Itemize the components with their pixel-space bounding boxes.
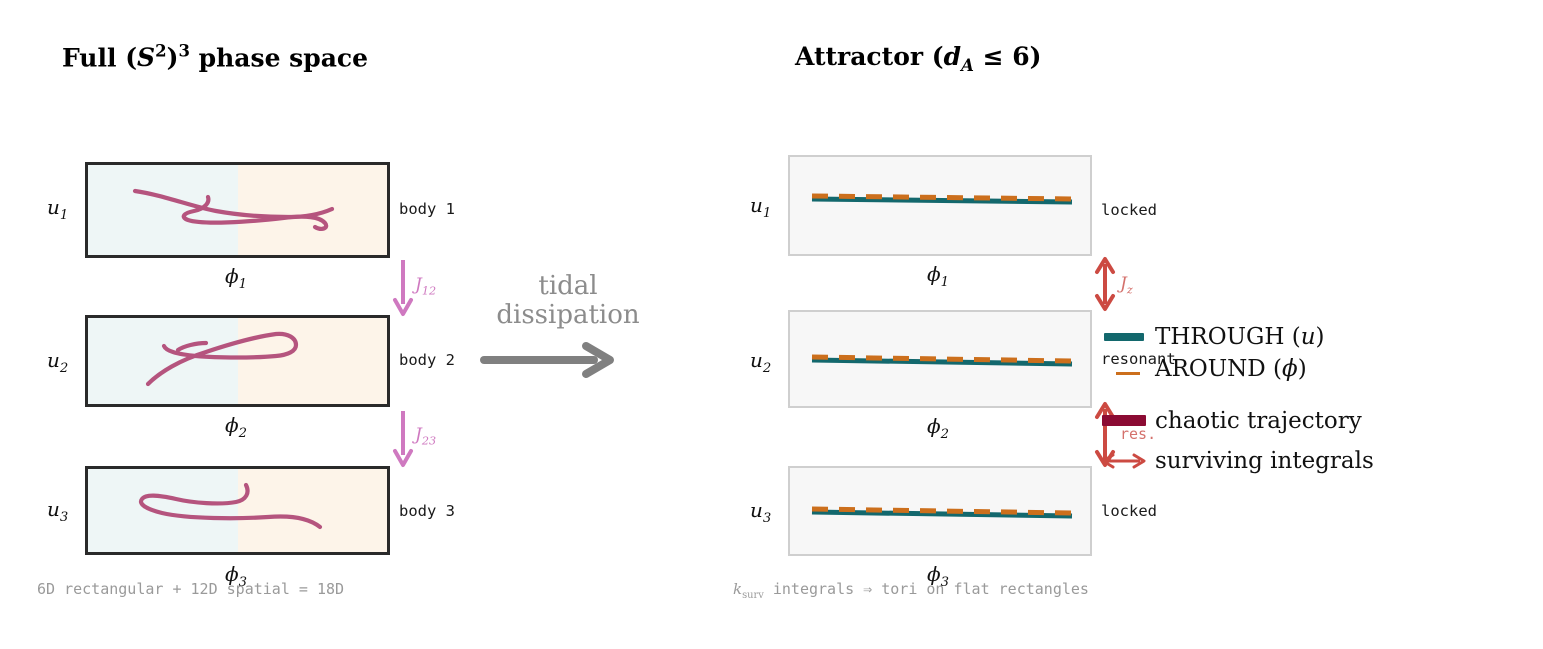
attractor-box-body-2[interactable] xyxy=(788,310,1092,408)
attractor-torus-line-1 xyxy=(790,157,1092,256)
attractor-box-body-1[interactable] xyxy=(788,155,1092,256)
figure-canvas: Full (S2)3 phase space Attractor (dA ≤ 6… xyxy=(0,0,1543,649)
attractor-torus-line-3 xyxy=(790,468,1092,556)
legend-around-paren: (ϕ) xyxy=(1273,356,1307,382)
left-panel-title: Full (S2)3 phase space xyxy=(62,42,368,72)
chaotic-trajectory-1 xyxy=(88,165,390,258)
right-caption-k: k xyxy=(733,580,742,598)
left-title-tail: phase space xyxy=(199,43,368,72)
right-panel-caption: ksurv integrals ⇒ tori on flat rectangle… xyxy=(733,580,1089,601)
surviving-integral-label-res: res. xyxy=(1120,425,1156,443)
attractor-box-3-side-label: locked xyxy=(1101,502,1157,520)
attractor-box-3-y-axis-label: u3 xyxy=(750,498,771,526)
legend-through-paren: (u) xyxy=(1292,324,1325,350)
attractor-box-2-y-axis-label: u2 xyxy=(750,348,771,376)
legend-label-surviving-integrals: surviving integrals xyxy=(1155,448,1374,474)
phase-box-body-1[interactable] xyxy=(85,162,390,258)
attractor-box-2-x-axis-label: ϕ2 xyxy=(927,414,949,442)
right-panel-title: Attractor (dA ≤ 6) xyxy=(795,42,1041,75)
attractor-box-1-x-axis-label: ϕ1 xyxy=(927,262,949,290)
legend-through-main: THROUGH xyxy=(1155,324,1284,350)
legend-around-main: AROUND xyxy=(1155,356,1266,382)
legend-swatch-through-icon xyxy=(1104,333,1144,341)
tidal-dissipation-arrow xyxy=(482,340,622,380)
tidal-line-2: dissipation xyxy=(484,301,652,330)
legend-label-chaotic: chaotic trajectory xyxy=(1155,408,1362,434)
attractor-box-body-3[interactable] xyxy=(788,466,1092,556)
tidal-dissipation-label: tidal dissipation xyxy=(484,272,652,330)
phase-box-body-3[interactable] xyxy=(85,466,390,555)
legend-swatch-surviving-integrals-icon xyxy=(1098,450,1148,472)
chaotic-trajectory-2 xyxy=(88,318,390,407)
left-panel-caption: 6D rectangular + 12D spatial = 18D xyxy=(37,580,344,598)
right-caption-sub: surv xyxy=(742,590,764,601)
chaotic-trajectory-3 xyxy=(88,469,390,555)
right-title-math: (dA ≤ 6) xyxy=(932,42,1042,71)
phase-box-2-x-axis-label: ϕ2 xyxy=(225,413,247,441)
phase-box-3-y-axis-label: u3 xyxy=(47,497,68,525)
legend-label-around: AROUND (ϕ) xyxy=(1155,356,1307,382)
phase-box-1-x-axis-label: ϕ1 xyxy=(225,264,247,292)
coupling-label-j23: J23 xyxy=(415,425,436,447)
attractor-box-1-side-label: locked xyxy=(1101,201,1157,219)
legend-swatch-chaotic-icon xyxy=(1102,415,1146,426)
legend-swatch-around-icon xyxy=(1116,372,1140,375)
attractor-torus-line-2 xyxy=(790,312,1092,408)
right-caption-rest: integrals ⇒ tori on flat rectangles xyxy=(773,580,1089,598)
phase-box-2-y-axis-label: u2 xyxy=(47,348,68,376)
attractor-box-1-y-axis-label: u1 xyxy=(750,193,771,221)
phase-box-body-2[interactable] xyxy=(85,315,390,407)
phase-box-1-side-label: body 1 xyxy=(399,200,455,218)
left-title-math: (S2)3 xyxy=(125,43,190,72)
surviving-integral-arrow-jz xyxy=(1093,256,1119,312)
legend-label-through: THROUGH (u) xyxy=(1155,324,1325,350)
phase-box-1-y-axis-label: u1 xyxy=(47,195,68,223)
surviving-integral-label-jz: Jz xyxy=(1120,274,1133,296)
tidal-line-1: tidal xyxy=(484,272,652,301)
right-title-word: Attractor xyxy=(795,42,923,71)
phase-box-3-side-label: body 3 xyxy=(399,502,455,520)
phase-box-2-side-label: body 2 xyxy=(399,351,455,369)
left-title-word: Full xyxy=(62,43,116,72)
coupling-label-j12: J12 xyxy=(415,275,436,297)
